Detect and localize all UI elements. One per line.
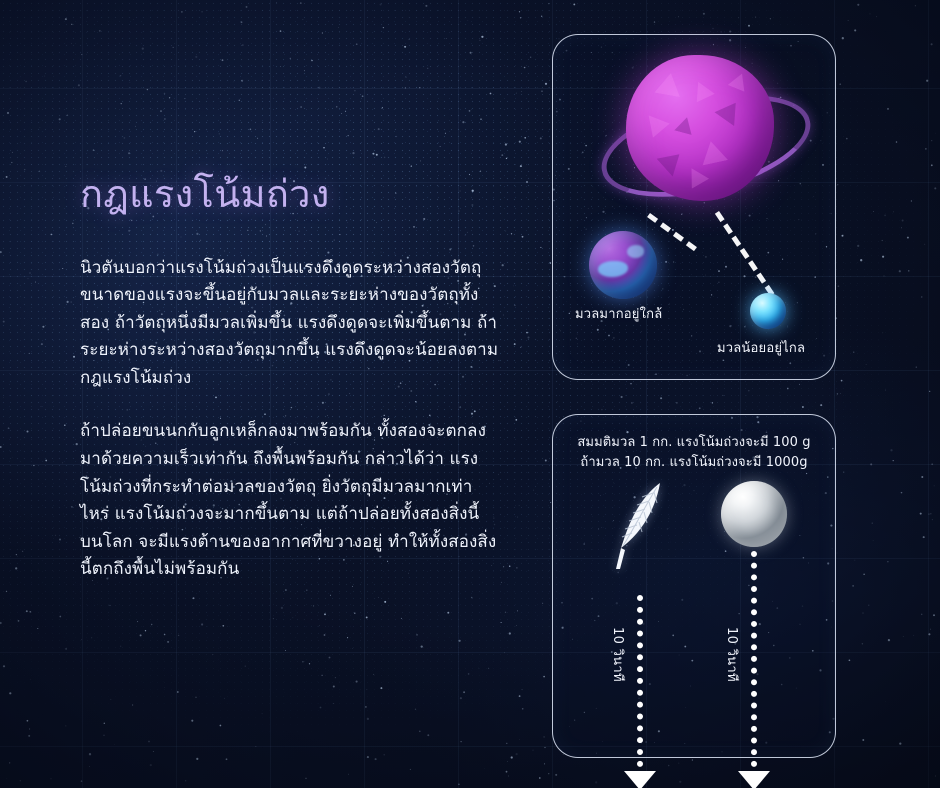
feather-fall-track <box>637 595 643 767</box>
gravity-distance-card: มวลมากอยู่ใกล้ มวลน้อยอยู่ไกล <box>552 34 836 380</box>
text-column: กฎแรงโน้มถ่วง นิวตันบอกว่าแรงโน้มถ่วงเป็… <box>80 172 500 584</box>
earth-globe-icon <box>589 231 657 299</box>
label-small-mass-far: มวลน้อยอยู่ไกล <box>717 337 805 358</box>
ball-fall-track <box>751 551 757 767</box>
assumption-line-1: สมมติมวล 1 กก. แรงโน้มถ่วงจะมี 100 g <box>553 433 835 453</box>
label-large-mass-near: มวลมากอยู่ใกล้ <box>575 303 662 324</box>
small-blue-planet-icon <box>750 293 786 329</box>
steel-ball-icon <box>721 481 787 547</box>
paragraph-1: นิวตันบอกว่าแรงโน้มถ่วงเป็นแรงดึงดูดระหว… <box>80 255 500 393</box>
feather-time-label: 10 วินาที <box>608 627 629 682</box>
ball-time-label: 10 วินาที <box>722 627 743 682</box>
large-purple-planet-icon <box>626 55 774 201</box>
ball-down-arrow-icon <box>738 771 770 788</box>
paragraph-2: ถ้าปล่อยขนนกกับลูกเหล็กลงมาพร้อมกัน ทั้ง… <box>80 418 500 583</box>
page-title: กฎแรงโน้มถ่วง <box>80 172 500 217</box>
feather-down-arrow-icon <box>624 771 656 788</box>
assumption-text: สมมติมวล 1 กก. แรงโน้มถ่วงจะมี 100 g ถ้า… <box>553 433 835 473</box>
feather-icon <box>613 479 669 571</box>
assumption-line-2: ถ้ามวล 10 กก. แรงโน้มถ่วงจะมี 1000g <box>553 453 835 473</box>
dashed-connector-near <box>647 213 697 251</box>
infographic-page: กฎแรงโน้มถ่วง นิวตันบอกว่าแรงโน้มถ่วงเป็… <box>0 0 940 788</box>
free-fall-card: สมมติมวล 1 กก. แรงโน้มถ่วงจะมี 100 g ถ้า… <box>552 414 836 758</box>
